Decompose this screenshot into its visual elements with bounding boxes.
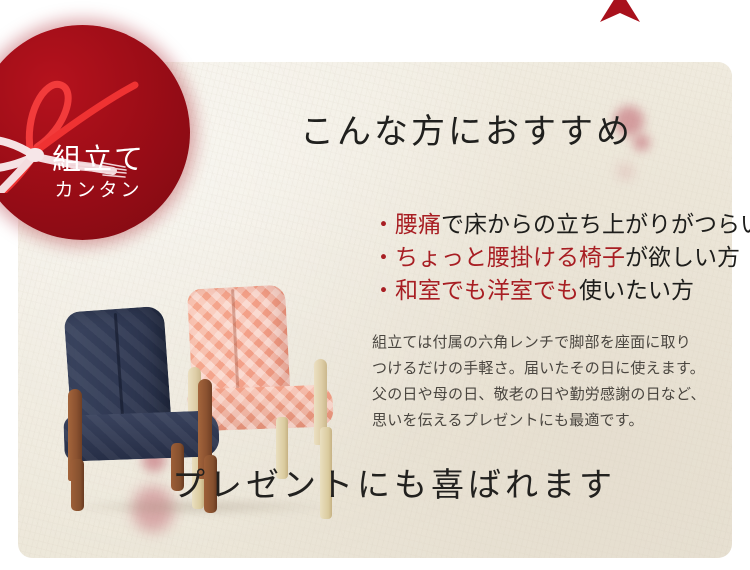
badge-line-1: 組立て <box>7 143 190 177</box>
pink-dot-small-right <box>620 166 631 177</box>
badge-line-2: カンタン <box>7 177 190 205</box>
bullet-rest-3: 使いたい方 <box>579 278 694 303</box>
bullet-rest-2: が欲しい方 <box>625 245 740 270</box>
description-line-3: 父の日や母の日、敬老の日や勤労感謝の日など、 <box>372 382 750 408</box>
badge-label: 組立て カンタン <box>0 143 190 205</box>
bullet-highlight-1: 腰痛 <box>395 212 441 237</box>
navy-chair-seat <box>63 410 220 461</box>
description-line-4: 思いを伝えるプレゼントにも最適です。 <box>372 408 750 434</box>
bullet-marker-1: ・ <box>372 212 395 237</box>
benefit-list: ・腰痛で床からの立ち上がりがつらい方 ・ちょっと腰掛ける椅子が欲しい方 ・和室で… <box>372 208 750 307</box>
list-item: ・腰痛で床からの立ち上がりがつらい方 <box>372 208 750 241</box>
bullet-highlight-3: 和室でも洋室でも <box>395 278 579 303</box>
bullet-marker-3: ・ <box>372 278 395 303</box>
description-line-1: 組立ては付属の六角レンチで脚部を座面に取り <box>372 330 750 356</box>
bullet-highlight-2: ちょっと腰掛ける椅子 <box>395 245 625 270</box>
navy-chair-leg-front-left <box>71 459 84 511</box>
description-text: 組立ては付属の六角レンチで脚部を座面に取り つけるだけの手軽さ。届いたその日に使… <box>372 330 750 434</box>
chevron-up-icon <box>600 0 640 22</box>
promo-banner: こんな方におすすめ ・腰痛で床からの立ち上がりがつらい方 ・ちょっと腰掛ける椅子… <box>0 0 750 570</box>
description-line-2: つけるだけの手軽さ。届いたその日に使えます。 <box>372 356 750 382</box>
page-title: こんな方におすすめ <box>300 104 633 153</box>
tagline: プレゼントにも喜ばれます <box>172 458 616 506</box>
list-item: ・和室でも洋室でも使いたい方 <box>372 274 750 307</box>
bullet-marker-2: ・ <box>372 245 395 270</box>
pink-dot-medium-right <box>633 134 650 151</box>
bullet-rest-1: で床からの立ち上がりがつらい方 <box>441 212 750 237</box>
list-item: ・ちょっと腰掛ける椅子が欲しい方 <box>372 241 750 274</box>
